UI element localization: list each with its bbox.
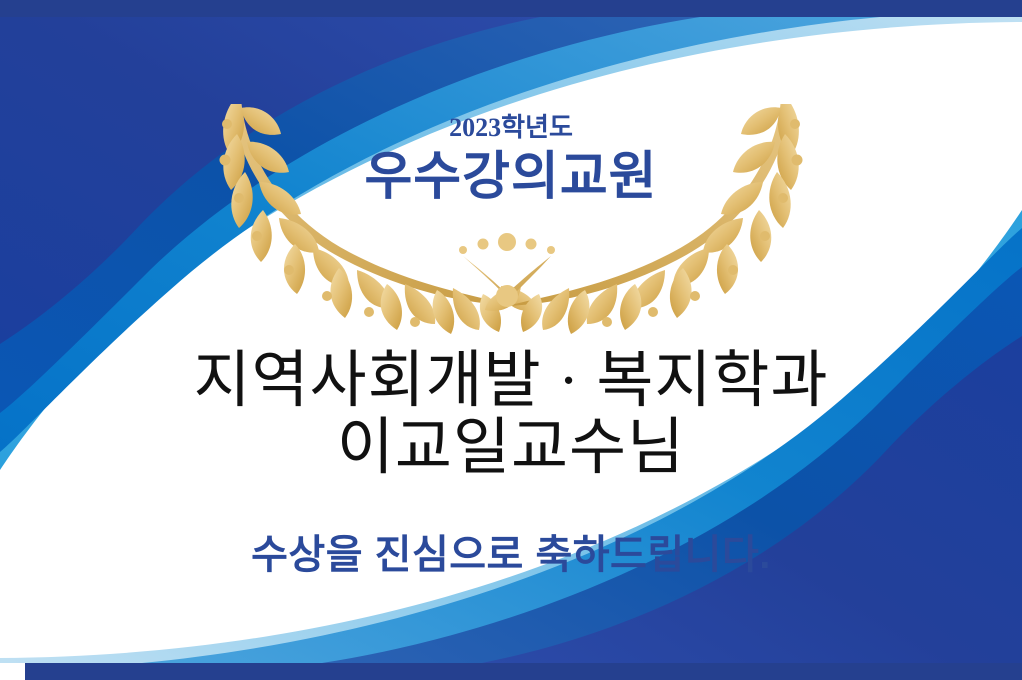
congratulation-message: 수상을 진심으로 축하드립니다. <box>251 522 771 580</box>
award-title: 우수강의교원 <box>201 145 821 210</box>
award-banner: 2023학년도 우수강의교원 지역사회개발 · 복지학과 이교일교수님 수상을 … <box>0 0 1022 680</box>
recipient-block: 지역사회개발 · 복지학과 이교일교수님 <box>193 348 828 482</box>
award-heading: 2023학년도 우수강의교원 <box>201 104 821 336</box>
recipient-department: 지역사회개발 · 복지학과 <box>193 348 828 415</box>
year-label: 2023학년도 <box>201 114 821 143</box>
recipient-name: 이교일교수님 <box>193 415 828 482</box>
banner-content: 2023학년도 우수강의교원 지역사회개발 · 복지학과 이교일교수님 수상을 … <box>0 0 1022 680</box>
wreath-heading-block: 2023학년도 우수강의교원 <box>201 104 821 336</box>
